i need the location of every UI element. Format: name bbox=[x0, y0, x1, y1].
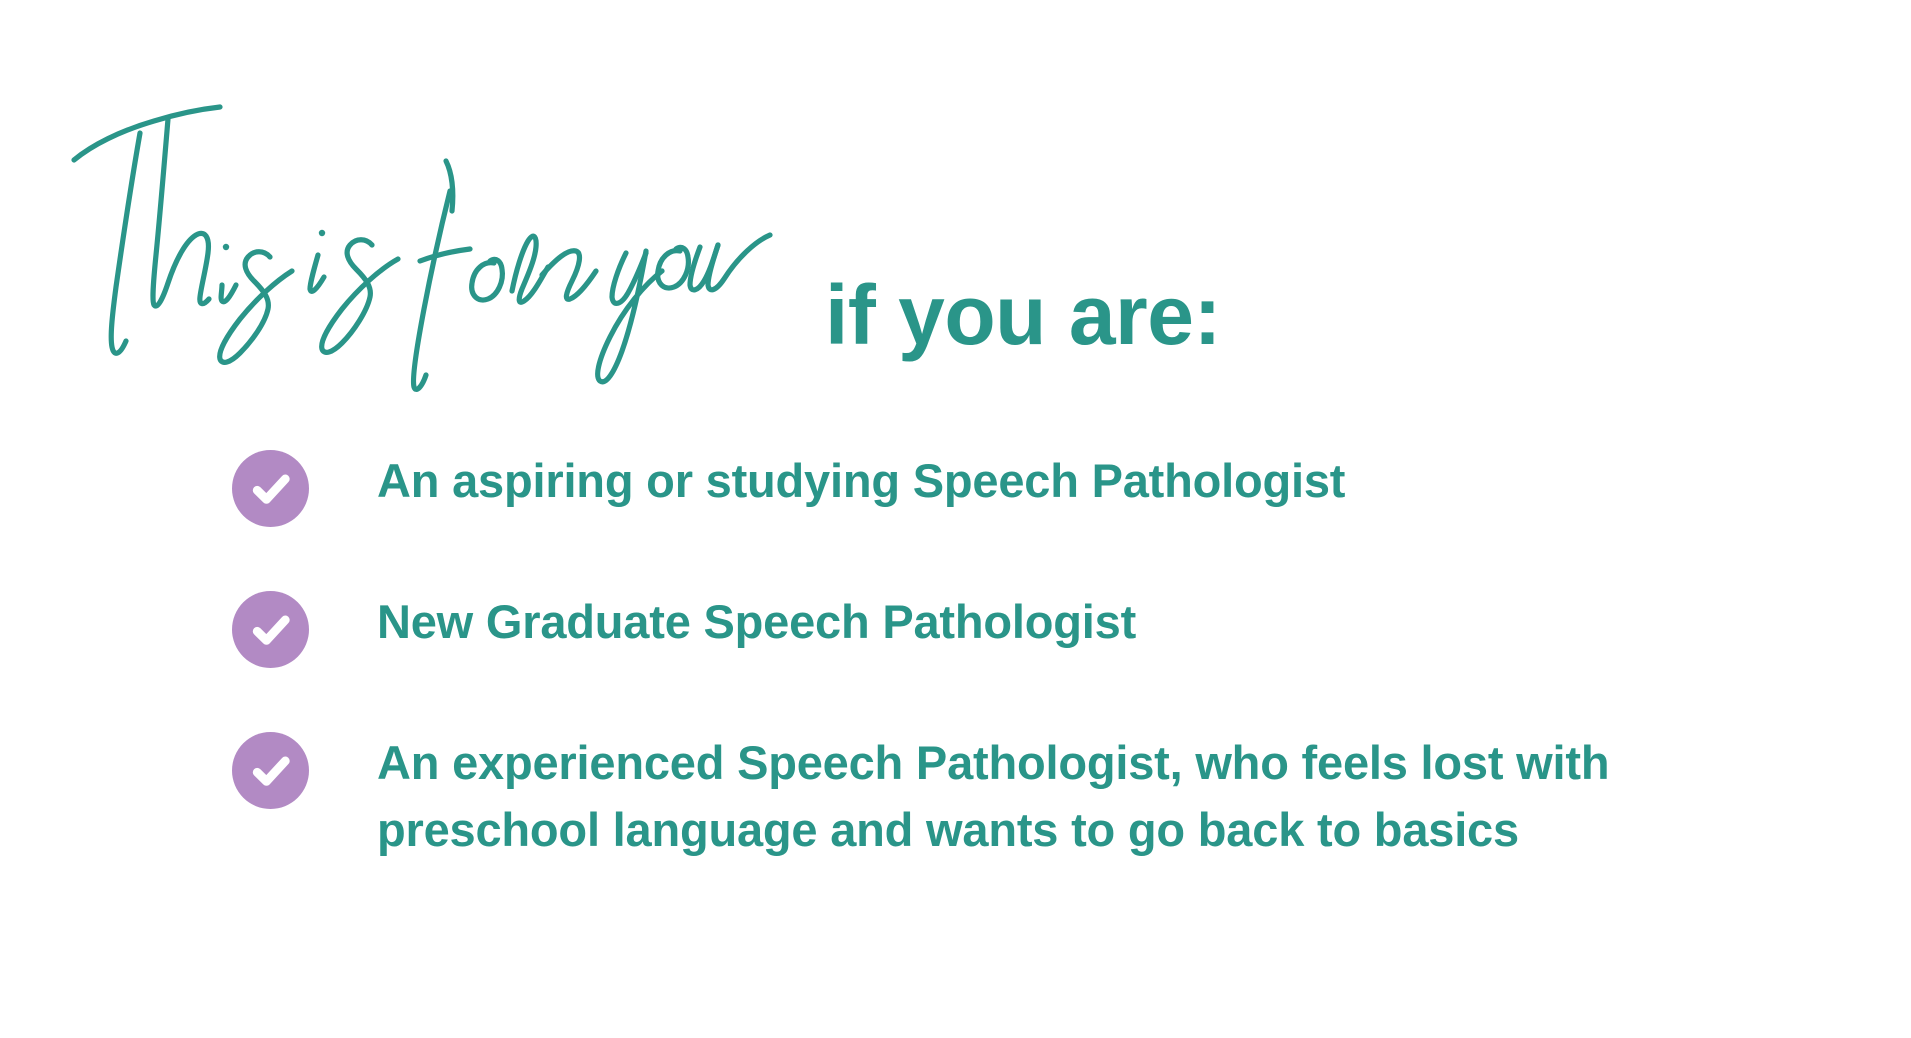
list-item: An experienced Speech Pathologist, who f… bbox=[232, 730, 1792, 863]
list-item-line: New Graduate Speech Pathologist bbox=[377, 589, 1136, 656]
slide-canvas: if you are: An aspiring or studying Spee… bbox=[0, 0, 1911, 1038]
list-item-label: New Graduate Speech Pathologist bbox=[377, 589, 1136, 656]
benefits-list: An aspiring or studying Speech Pathologi… bbox=[232, 448, 1792, 863]
list-item: New Graduate Speech Pathologist bbox=[232, 589, 1792, 668]
list-item-label: An aspiring or studying Speech Pathologi… bbox=[377, 448, 1345, 515]
check-circle-icon bbox=[232, 450, 309, 527]
page-title-bold: if you are: bbox=[825, 273, 1221, 357]
check-circle-icon bbox=[232, 591, 309, 668]
list-item-line: An aspiring or studying Speech Pathologi… bbox=[377, 448, 1345, 515]
headline-script-text bbox=[70, 95, 830, 385]
page-title: if you are: bbox=[70, 95, 1370, 385]
list-item-line: preschool language and wants to go back … bbox=[377, 797, 1609, 864]
list-item-line: An experienced Speech Pathologist, who f… bbox=[377, 730, 1609, 797]
list-item: An aspiring or studying Speech Pathologi… bbox=[232, 448, 1792, 527]
list-item-label: An experienced Speech Pathologist, who f… bbox=[377, 730, 1609, 863]
check-circle-icon bbox=[232, 732, 309, 809]
